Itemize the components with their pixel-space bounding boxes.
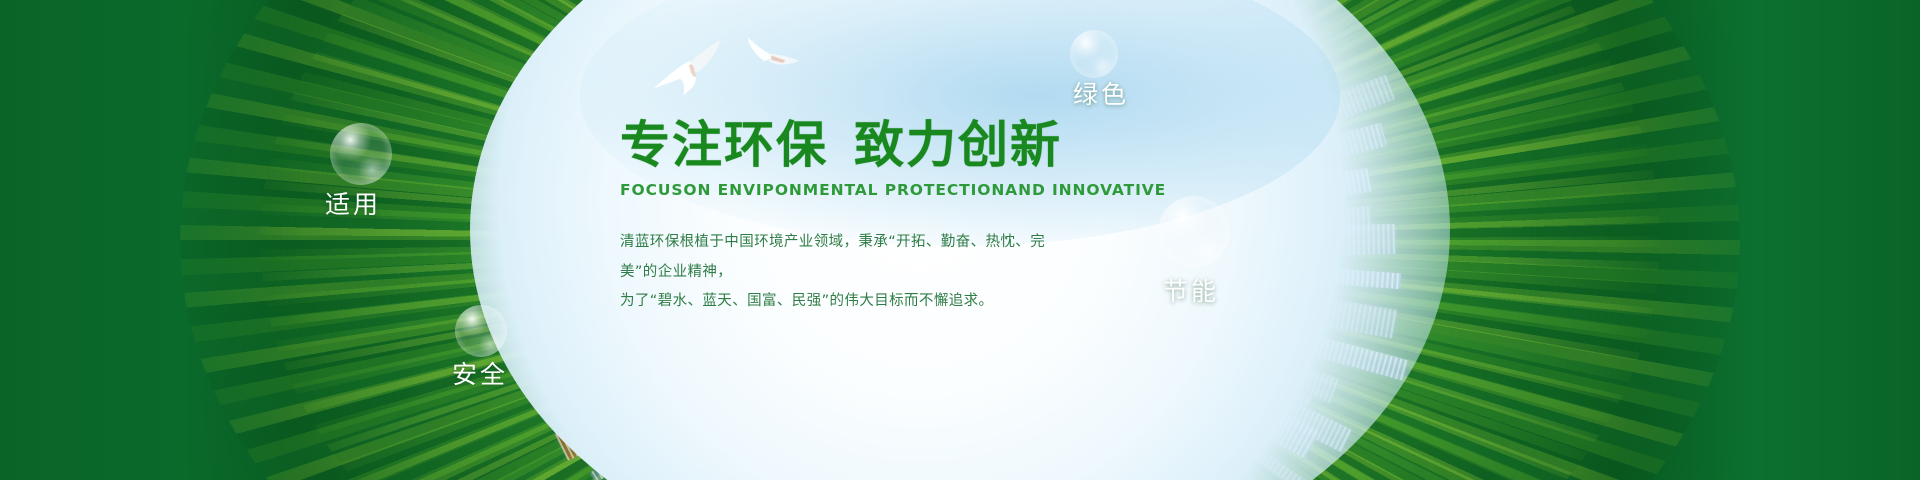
bubble-icon-1 <box>330 123 392 185</box>
page-title: 专注环保致力创新 <box>620 118 1320 172</box>
headline-part-2: 致力创新 <box>854 116 1062 174</box>
copy-block: 专注环保致力创新 FOCUSON ENVIPONMENTAL PROTECTIO… <box>620 118 1320 317</box>
paragraph-line-2: 为了“碧水、蓝天、国富、民强”的伟大目标而不懈追求。 <box>620 287 1050 317</box>
bubble-icon-2 <box>455 305 507 357</box>
bubble-icon-3 <box>1070 30 1118 78</box>
feature-label-2[interactable]: 安全 <box>452 355 508 391</box>
subtitle-english: FOCUSON ENVIPONMENTAL PROTECTIONAND INNO… <box>620 181 1320 199</box>
seagull-icon-small <box>740 27 808 77</box>
feature-label-1[interactable]: 适用 <box>325 185 381 221</box>
environmental-hero-banner: 适用安全绿色节能 专注环保致力创新 FOCUSON ENVIPONMENTAL … <box>0 0 1920 480</box>
feature-label-3[interactable]: 绿色 <box>1073 75 1129 111</box>
headline-part-1: 专注环保 <box>620 116 828 174</box>
paragraph-line-1: 清蓝环保根植于中国环境产业领域，秉承“开拓、勤奋、热忱、完美”的企业精神， <box>620 228 1050 287</box>
body-paragraph: 清蓝环保根植于中国环境产业领域，秉承“开拓、勤奋、热忱、完美”的企业精神， 为了… <box>620 228 1050 317</box>
